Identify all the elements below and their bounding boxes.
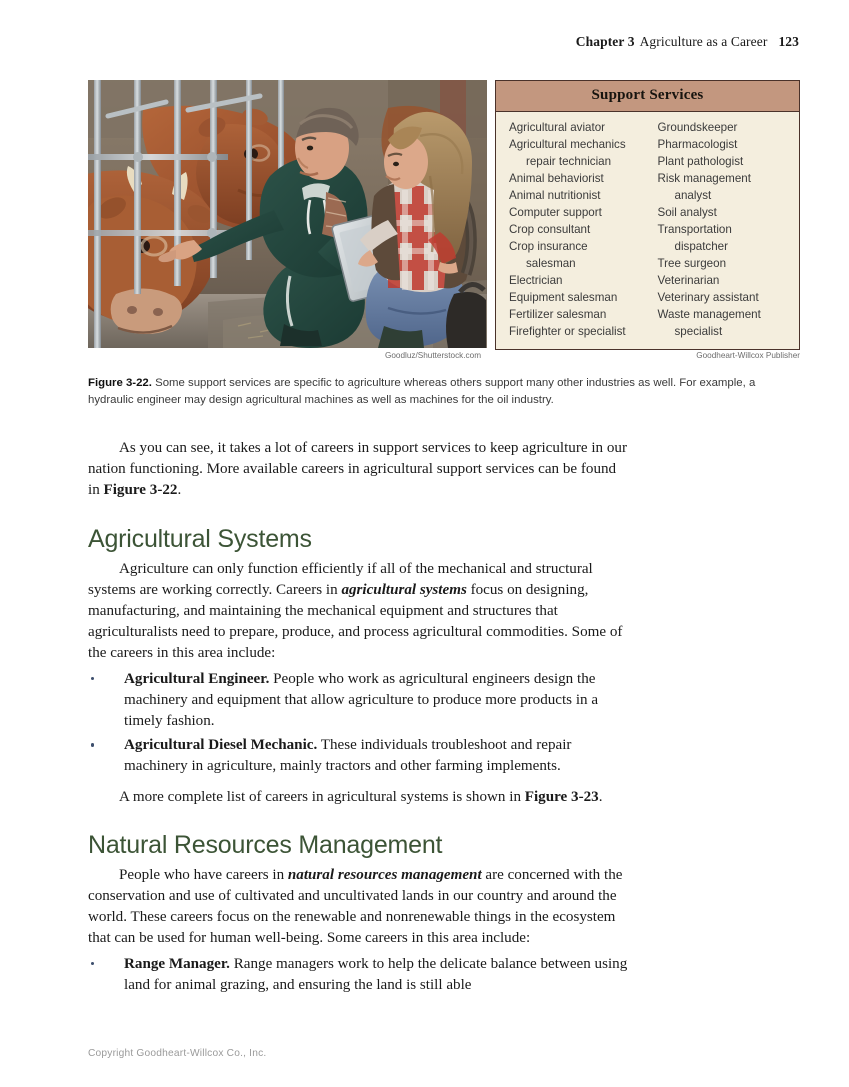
heading-natural-resources-management: Natural Resources Management xyxy=(88,831,630,859)
list-item: Agricultural Engineer. People who work a… xyxy=(88,669,630,733)
list-item: Range Manager. Range managers work to he… xyxy=(88,954,630,996)
table-cell: salesman xyxy=(509,255,648,272)
table-cell: Crop consultant xyxy=(509,221,648,238)
table-cell: Firefighter or specialist xyxy=(509,323,648,340)
paragraph-agricultural-systems-closing: A more complete list of careers in agric… xyxy=(88,787,630,808)
closing-text-a: A more complete list of careers in agric… xyxy=(119,789,525,805)
figure-3-22: Support Services Agricultural aviatorAgr… xyxy=(88,80,800,408)
bullet-dot-icon xyxy=(91,962,94,965)
career-term: Agricultural Engineer. xyxy=(124,671,269,687)
table-cell: Animal behaviorist xyxy=(509,170,648,187)
list-item: Agricultural Diesel Mechanic. These indi… xyxy=(88,735,630,777)
vocab-agricultural-systems: agricultural systems xyxy=(341,582,466,598)
table-header: Support Services xyxy=(496,81,799,112)
table-cell: Crop insurance xyxy=(509,238,648,255)
list-natural-resources-careers: Range Manager. Range managers work to he… xyxy=(88,954,630,996)
table-cell: Tree surgeon xyxy=(658,255,800,272)
table-cell: Electrician xyxy=(509,272,648,289)
farm-photo xyxy=(88,80,487,348)
table-cell: Equipment salesman xyxy=(509,289,648,306)
support-services-table: Support Services Agricultural aviatorAgr… xyxy=(495,80,800,350)
table-cell: analyst xyxy=(658,187,800,204)
figure-caption-label: Figure 3-22. xyxy=(88,377,152,389)
vocab-natural-resources-management: natural resources management xyxy=(288,867,482,883)
table-cell: repair technician xyxy=(509,153,648,170)
photo-credit: Goodluz/Shutterstock.com xyxy=(385,351,481,360)
table-cell: Veterinarian xyxy=(658,272,800,289)
table-column-right: GroundskeeperPharmacologistPlant patholo… xyxy=(648,119,800,340)
figure-reference-3-22: Figure 3-22 xyxy=(104,482,178,498)
figure-caption-text: Some support services are specific to ag… xyxy=(88,377,755,406)
copyright-footer: Copyright Goodheart-Willcox Co., Inc. xyxy=(88,1048,266,1059)
table-column-left: Agricultural aviatorAgricultural mechani… xyxy=(496,119,648,340)
farm-photo-illustration xyxy=(88,80,487,348)
table-cell: Plant pathologist xyxy=(658,153,800,170)
running-head-title: Agriculture as a Career xyxy=(640,34,768,49)
paragraph-natural-resources: People who have careers in natural resou… xyxy=(88,865,630,950)
figure-credits: Goodluz/Shutterstock.com Goodheart-Willc… xyxy=(88,351,800,367)
table-cell: Computer support xyxy=(509,204,648,221)
page-number: 123 xyxy=(778,34,799,49)
body-content: As you can see, it takes a lot of career… xyxy=(88,438,630,999)
running-head: Chapter 3Agriculture as a Career123 xyxy=(576,34,799,50)
list-agricultural-systems-careers: Agricultural Engineer. People who work a… xyxy=(88,669,630,778)
table-credit: Goodheart-Willcox Publisher xyxy=(696,351,800,360)
bullet-dot-icon xyxy=(91,743,94,746)
figure-row: Support Services Agricultural aviatorAgr… xyxy=(88,80,800,348)
figure-caption: Figure 3-22. Some support services are s… xyxy=(88,375,792,408)
table-cell: Agricultural aviator xyxy=(509,119,648,136)
table-cell: specialist xyxy=(658,323,800,340)
table-cell: Waste management xyxy=(658,306,800,323)
career-term: Range Manager. xyxy=(124,956,230,972)
table-cell: Groundskeeper xyxy=(658,119,800,136)
paragraph-support-services-intro: As you can see, it takes a lot of career… xyxy=(88,438,630,502)
table-body: Agricultural aviatorAgricultural mechani… xyxy=(496,112,799,349)
table-cell: Animal nutritionist xyxy=(509,187,648,204)
heading-agricultural-systems: Agricultural Systems xyxy=(88,525,630,553)
career-term: Agricultural Diesel Mechanic. xyxy=(124,737,317,753)
bullet-dot-icon xyxy=(91,677,94,680)
closing-text-b: . xyxy=(599,789,603,805)
figure-reference-3-23: Figure 3-23 xyxy=(525,789,599,805)
table-cell: dispatcher xyxy=(658,238,800,255)
table-cell: Risk management xyxy=(658,170,800,187)
intro-text-b: . xyxy=(177,482,181,498)
table-cell: Fertilizer salesman xyxy=(509,306,648,323)
paragraph-agricultural-systems: Agriculture can only function efficientl… xyxy=(88,559,630,665)
table-cell: Transportation xyxy=(658,221,800,238)
table-cell: Pharmacologist xyxy=(658,136,800,153)
running-head-chapter: Chapter 3 xyxy=(576,34,635,49)
table-cell: Agricultural mechanics xyxy=(509,136,648,153)
textbook-page: Chapter 3Agriculture as a Career123 xyxy=(0,0,849,1087)
table-cell: Soil analyst xyxy=(658,204,800,221)
table-cell: Veterinary assistant xyxy=(658,289,800,306)
nat-res-text-a: People who have careers in xyxy=(119,867,288,883)
